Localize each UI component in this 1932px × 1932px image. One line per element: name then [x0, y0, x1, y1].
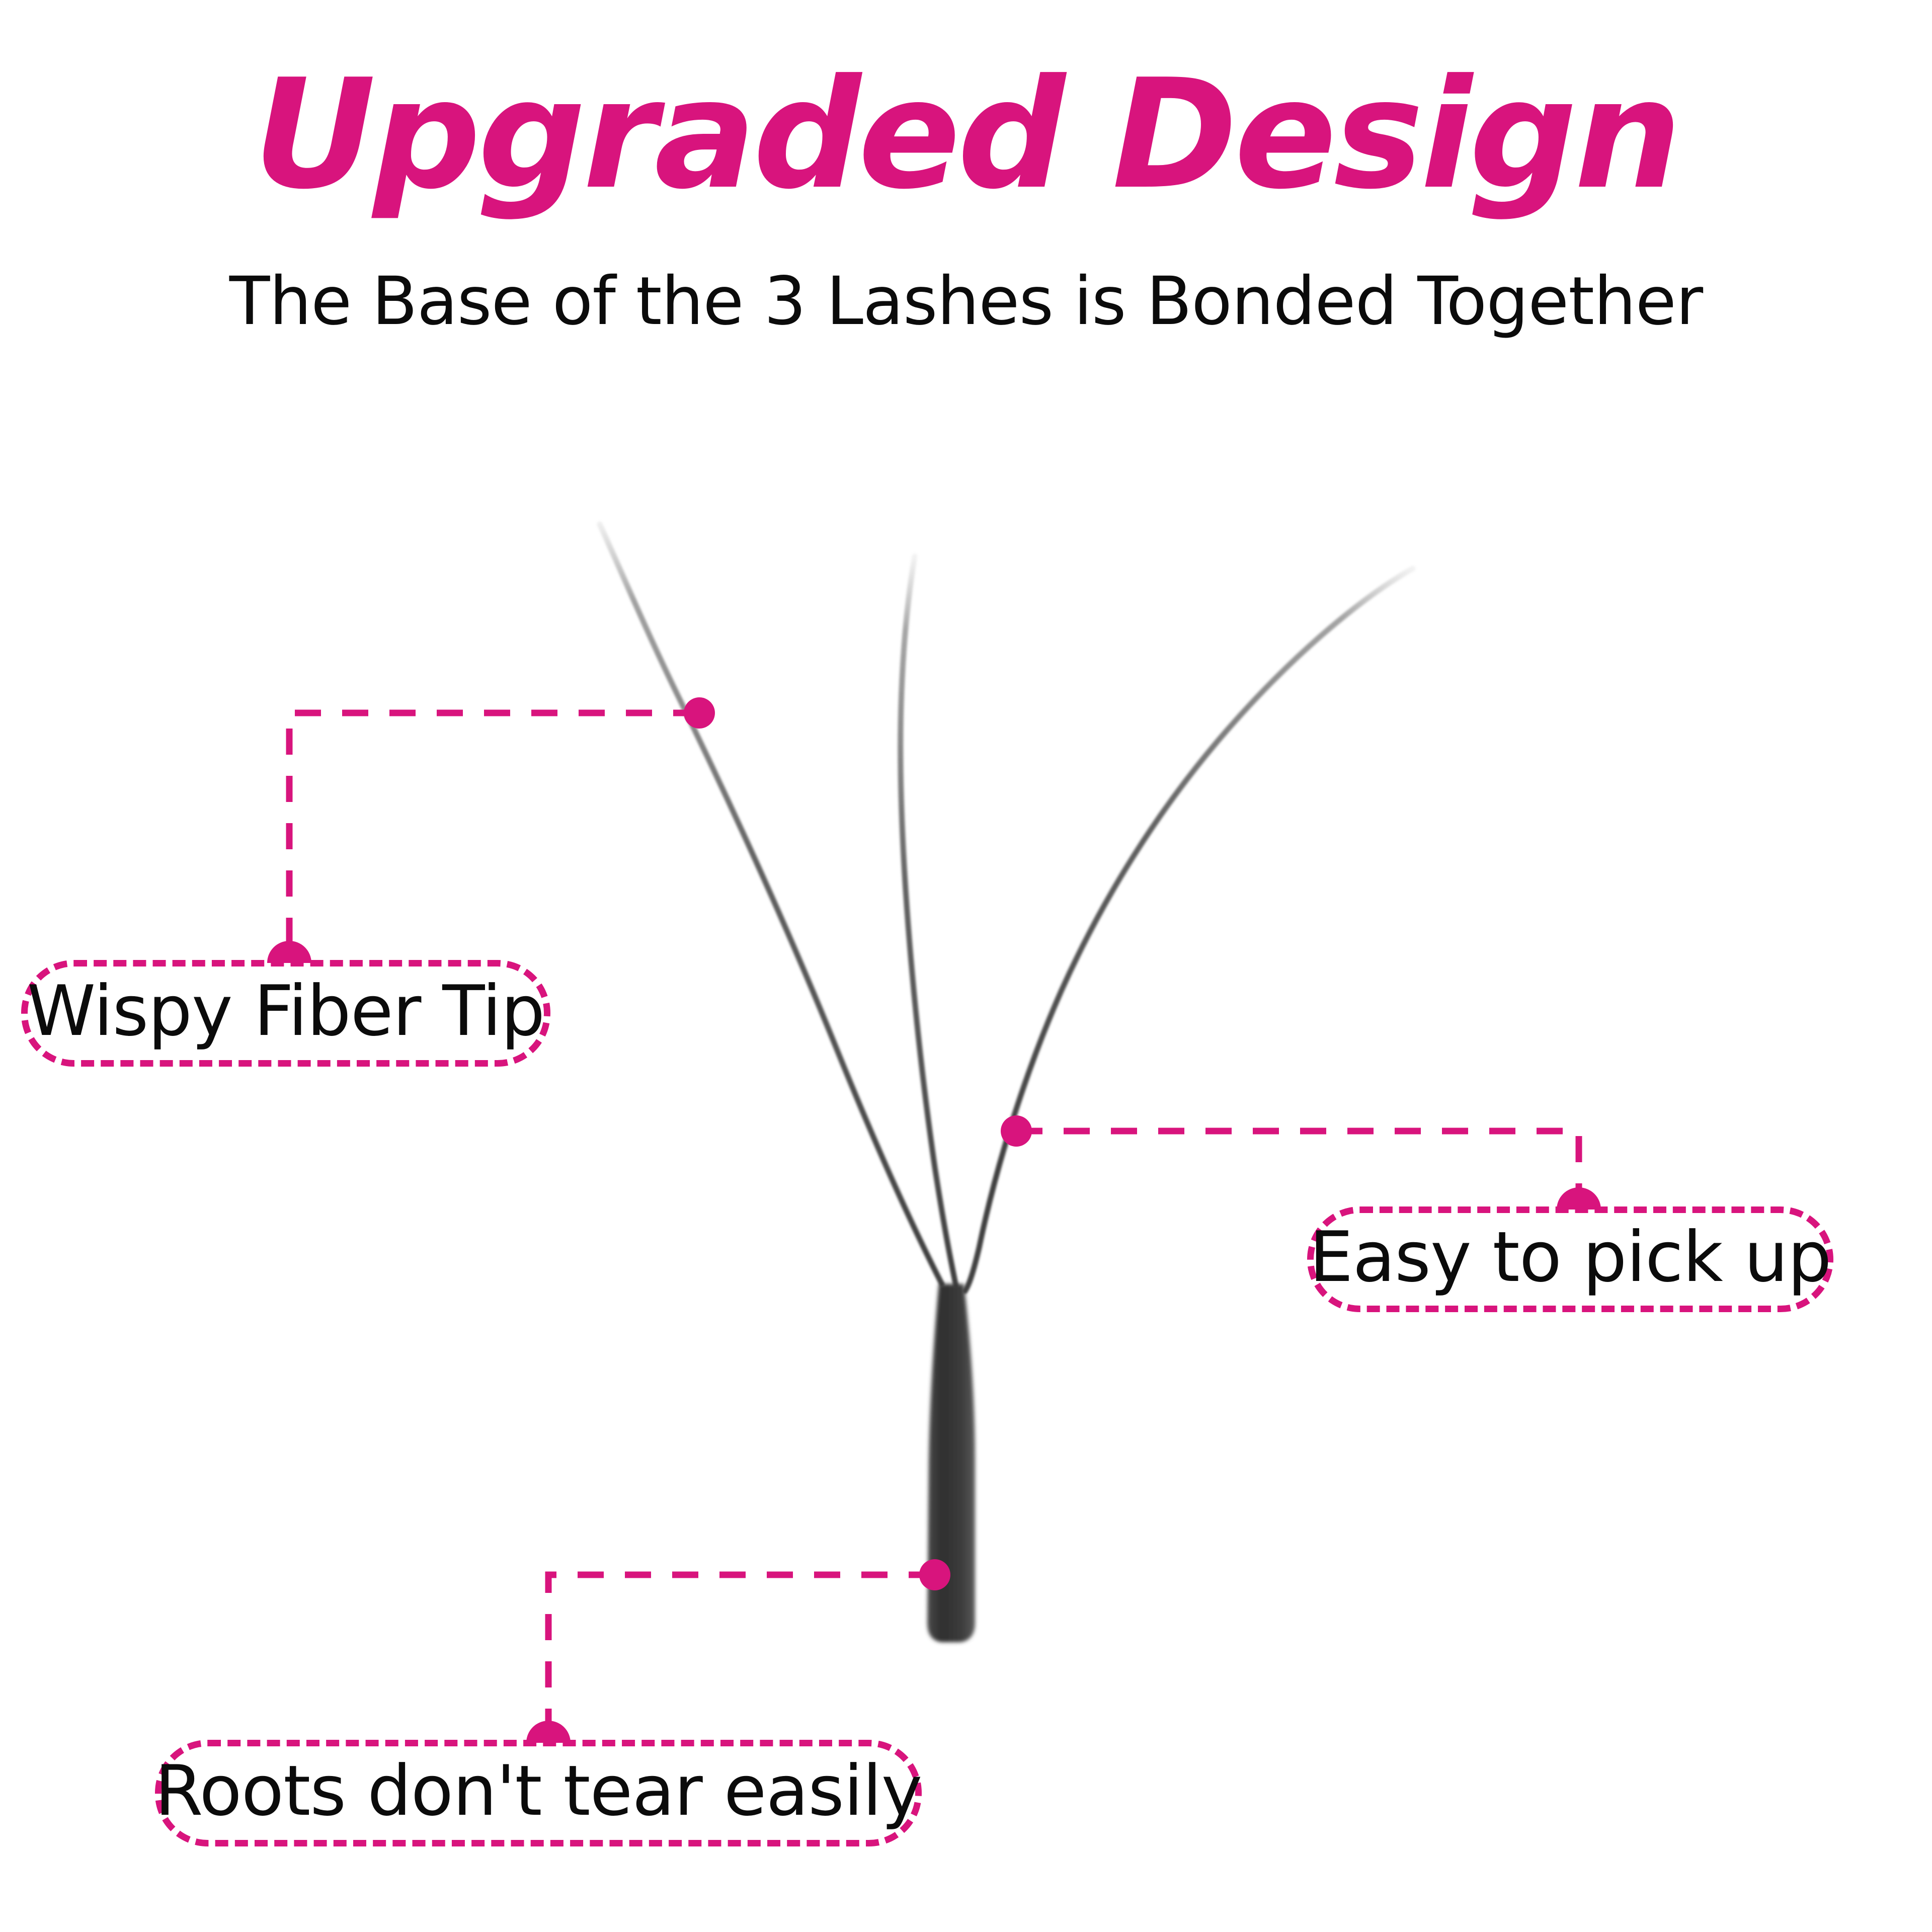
anchor-dot-wispy: [684, 697, 715, 729]
lash-fiber-left: [600, 524, 942, 1284]
callout-wispy-fiber-tip: Wispy Fiber Tip: [21, 960, 550, 1067]
leader-easy-to-pick-up: [1001, 1115, 1601, 1210]
lash-fiber-right: [965, 569, 1413, 1291]
leader-line-wispy: [289, 713, 699, 960]
callout-label-easy-to-pick-up: Easy to pick up: [1309, 1223, 1831, 1292]
callout-roots-dont-tear-easily: Roots don't tear easily: [155, 1740, 922, 1846]
callout-easy-to-pick-up: Easy to pick up: [1307, 1206, 1833, 1312]
infographic-canvas: Upgraded Design The Base of the 3 Lashes…: [0, 0, 1932, 1932]
leader-wispy-fiber-tip: [267, 697, 715, 963]
lash-fiber-middle: [901, 556, 956, 1286]
artboard: Upgraded Design The Base of the 3 Lashes…: [0, 0, 1932, 1932]
leader-line-roots: [548, 1575, 935, 1740]
callout-label-roots-dont-tear-easily: Roots don't tear easily: [155, 1756, 922, 1826]
leader-line-easy: [1016, 1131, 1579, 1206]
lash-fiber-group: [600, 524, 1413, 1291]
callout-label-wispy-fiber-tip: Wispy Fiber Tip: [27, 977, 545, 1046]
anchor-dot-roots: [919, 1559, 950, 1590]
anchor-dot-easy: [1001, 1115, 1032, 1147]
leader-roots-dont-tear: [526, 1559, 950, 1743]
